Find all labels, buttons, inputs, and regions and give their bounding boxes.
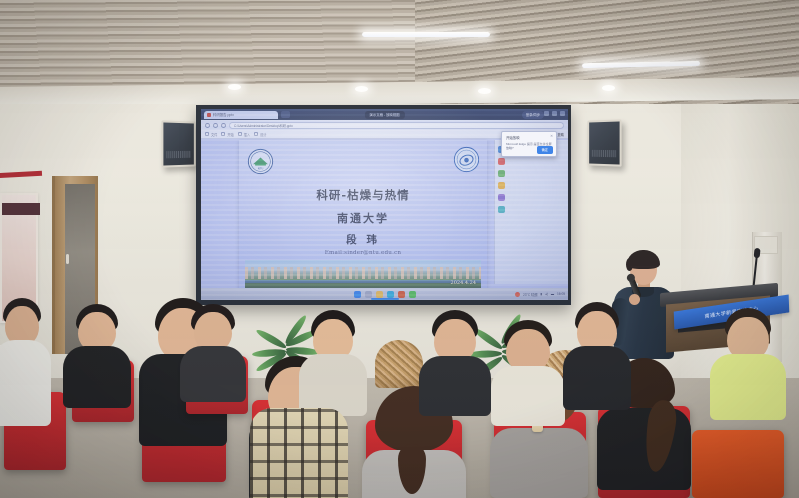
wall-speaker-right	[587, 119, 621, 166]
minimize-icon[interactable]	[544, 111, 549, 116]
dialog-close-icon[interactable]: ✕	[550, 134, 553, 138]
wicker-armchair	[375, 340, 423, 388]
torso	[597, 408, 691, 490]
glasses-icon	[631, 266, 656, 270]
ribbon-label: 设计	[260, 132, 266, 137]
list-item	[180, 306, 246, 394]
ppt-icon[interactable]	[398, 291, 405, 298]
presentation-mode-chip: 演示文稿 - 放映视图	[364, 111, 404, 119]
explorer-icon[interactable]	[376, 291, 383, 298]
list-item	[64, 306, 130, 398]
projected-desktop: 科研报告.pptx 演示文稿 - 放映视图 登录/同步 C:\Users\Adm…	[201, 109, 568, 300]
search-icon[interactable]	[365, 291, 372, 298]
battery-icon[interactable]: ▬	[551, 292, 554, 296]
torso	[419, 356, 491, 416]
list-item	[0, 300, 50, 420]
refresh-icon[interactable]	[221, 123, 226, 128]
file-icon	[205, 132, 209, 136]
poster-header-band	[2, 203, 40, 215]
forward-arrow-icon[interactable]	[213, 123, 218, 128]
ribbon-group-home[interactable]: 开始	[221, 132, 233, 137]
edge-icon[interactable]	[387, 291, 394, 298]
notification-dot-icon[interactable]	[515, 292, 520, 297]
torso	[563, 346, 631, 410]
windows-taskbar[interactable]: 23°C 晴朗 ▮ ◂) ▬ 16:05	[201, 288, 568, 300]
city-skyline	[245, 267, 481, 279]
slide-task-pane[interactable]	[494, 140, 568, 284]
svg-text:NTU: NTU	[258, 167, 264, 171]
list-item	[300, 312, 366, 404]
slide-date: 2024.4.24	[451, 280, 476, 286]
new-tab-button[interactable]	[281, 111, 290, 118]
slatted-ceiling	[0, 0, 799, 104]
image-icon[interactable]	[498, 158, 505, 165]
river-band	[245, 280, 481, 283]
slide-presenter-name: 段 玮	[239, 232, 487, 247]
ribbon-label: 插入	[244, 132, 250, 137]
dialog-confirm-button[interactable]: 确定	[537, 146, 553, 154]
torso	[0, 340, 51, 426]
maximize-icon[interactable]	[552, 111, 557, 116]
torso	[180, 346, 246, 402]
dialog-title: 开始放映	[502, 132, 556, 140]
slide-email: Email:sinder@ntu.edu.cn	[239, 250, 487, 256]
active-app-indicator	[371, 298, 399, 300]
presenter-hand	[629, 294, 640, 305]
list-item	[712, 310, 784, 410]
window-controls[interactable]	[544, 111, 565, 116]
downlight-2	[478, 88, 491, 94]
close-icon[interactable]	[560, 111, 565, 116]
start-icon[interactable]	[354, 291, 361, 298]
slide-canvas[interactable]: NTU 科研-枯燥与热情 南通大学 段 玮 Email:sinder@ntu.e…	[239, 140, 487, 295]
browser-tab[interactable]: 科研报告.pptx	[204, 111, 278, 119]
system-tray[interactable]: 23°C 晴朗 ▮ ◂) ▬ 16:05	[515, 292, 565, 297]
back-arrow-icon[interactable]	[205, 123, 210, 128]
torso	[491, 366, 565, 426]
chart-icon[interactable]	[498, 182, 505, 189]
chair[interactable]	[692, 430, 784, 498]
school-emblem-blue-icon	[453, 146, 480, 173]
ribbon-group-design[interactable]: 设计	[254, 132, 266, 137]
clock-label[interactable]: 16:05	[557, 292, 565, 296]
tab-favicon-icon	[207, 113, 211, 117]
volume-icon[interactable]: ◂)	[545, 292, 548, 296]
confirm-dialog[interactable]: ✕ 开始放映 Microsoft Edge 提示:是否允许全屏放映? 确定	[501, 131, 557, 157]
list-item	[250, 392, 348, 498]
speaker-grille-icon	[166, 151, 191, 158]
browser-navbar: C:\Users\Administrator\Desktop\科研.pptx	[201, 120, 568, 130]
insert-icon	[238, 132, 242, 136]
projection-screen-bezel: 科研报告.pptx 演示文稿 - 放映视图 登录/同步 C:\Users\Adm…	[196, 105, 571, 305]
wechat-icon[interactable]	[409, 291, 416, 298]
media-icon[interactable]	[498, 194, 505, 201]
address-bar[interactable]: C:\Users\Administrator\Desktop\科研.pptx	[229, 122, 564, 129]
ribbon-label: 开始	[227, 132, 233, 137]
downlight-3	[602, 85, 615, 91]
downlight-1	[355, 86, 368, 92]
ribbon-label: 文件	[211, 132, 217, 137]
shape-icon[interactable]	[498, 170, 505, 177]
list-item	[492, 322, 564, 414]
tab-title: 科研报告.pptx	[213, 112, 234, 117]
wall-speaker-left	[161, 120, 195, 167]
network-icon[interactable]: ▮	[540, 292, 542, 296]
door-handle[interactable]	[66, 254, 69, 264]
lecture-hall-photo: 科研报告.pptx 演示文稿 - 放映视图 登录/同步 C:\Users\Adm…	[0, 0, 799, 498]
slide-campus-photo: 2024.4.24	[245, 260, 481, 290]
slide-title: 科研-枯燥与热情	[239, 187, 487, 203]
nantong-university-emblem-icon: NTU	[247, 148, 274, 175]
torso-plaid	[250, 408, 348, 498]
ribbon-group-insert[interactable]: 插入	[238, 132, 250, 137]
torso	[490, 428, 588, 498]
list-item	[564, 304, 630, 400]
browser-titlebar: 科研报告.pptx 演示文稿 - 放映视图 登录/同步	[201, 109, 568, 120]
speaker-grille-icon	[592, 150, 617, 157]
slide-organization: 南通大学	[239, 210, 487, 226]
effect-icon[interactable]	[498, 206, 505, 213]
ribbon-group-file[interactable]: 文件	[205, 132, 217, 137]
weather-label: 23°C 晴朗	[523, 292, 537, 297]
account-sync-chip[interactable]: 登录/同步	[522, 111, 544, 119]
torso	[710, 354, 786, 420]
design-icon	[254, 132, 258, 136]
downlight-4	[228, 84, 241, 90]
linear-light-1	[362, 32, 490, 37]
torso	[63, 346, 131, 408]
home-icon	[221, 132, 225, 136]
list-item	[420, 312, 490, 406]
